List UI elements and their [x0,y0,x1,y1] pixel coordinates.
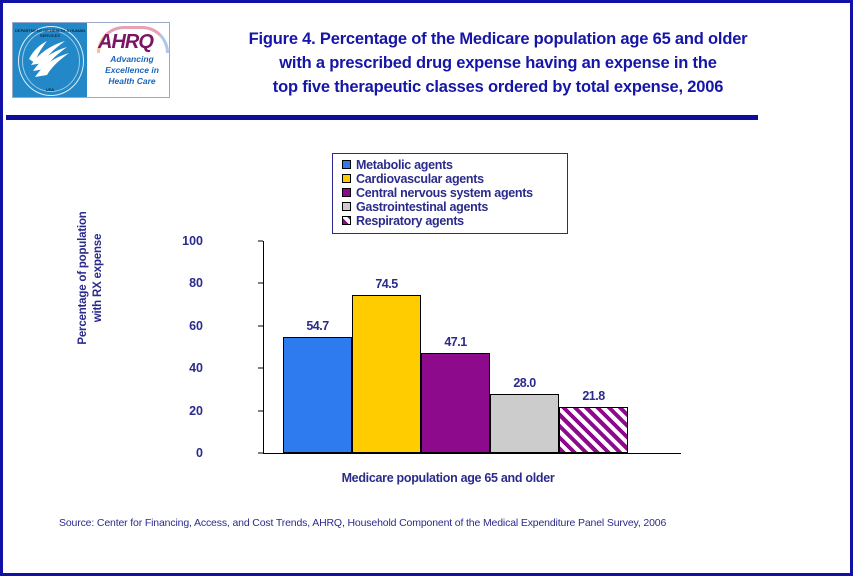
header-divider [6,115,758,120]
figure-page: DEPARTMENT OF HEALTH & HUMAN SERVICES US… [0,0,853,576]
source-note: Source: Center for Financing, Access, an… [59,517,666,529]
bar-series: 54.774.547.128.021.8 [264,241,681,453]
x-axis-line [263,453,681,454]
bar-group: 54.7 [283,241,352,453]
y-axis-label-line1: Percentage of population [76,188,91,368]
x-axis-label: Medicare population age 65 and older [203,471,693,485]
figure-title-line1: Figure 4. Percentage of the Medicare pop… [183,27,813,51]
legend-swatch-icon [342,160,351,169]
ahrq-tagline: Advancing Excellence in Health Care [95,54,169,87]
y-axis-tick-label: 40 [189,361,203,375]
legend-item-label: Cardiovascular agents [356,172,484,186]
hhs-eagle-icon [23,35,77,81]
y-axis-tick-label: 20 [189,404,203,418]
bar [283,337,352,453]
bar-group: 47.1 [421,241,490,453]
legend-item: Central nervous system agents [342,186,562,199]
ahrq-wordmark: AHRQ Advancing Excellence in Health Care [87,23,169,97]
seal-bottom-text: USA [13,87,87,92]
legend-swatch-icon [342,188,351,197]
hhs-seal-icon: DEPARTMENT OF HEALTH & HUMAN SERVICES US… [13,23,87,97]
legend-swatch-icon [342,174,351,183]
legend-item-label: Metabolic agents [356,158,453,172]
y-axis-tick-label: 0 [196,446,203,460]
legend-item-label: Gastrointestinal agents [356,200,488,214]
ahrq-tagline-line1: Advancing [95,54,169,65]
legend-item-label: Central nervous system agents [356,186,533,200]
y-axis-tick-label: 60 [189,319,203,333]
legend-item: Respiratory agents [342,214,562,227]
legend-swatch-icon [342,202,351,211]
y-axis-label-line2: with RX expense [91,188,106,368]
y-axis: 020406080100 [203,241,233,453]
figure-header: DEPARTMENT OF HEALTH & HUMAN SERVICES US… [3,3,850,115]
bar-group: 21.8 [559,241,628,453]
bar [352,295,421,453]
bar [421,353,490,453]
ahrq-tagline-line3: Health Care [95,76,169,87]
ahrq-logo: DEPARTMENT OF HEALTH & HUMAN SERVICES US… [12,22,170,98]
figure-title-line2: with a prescribed drug expense having an… [183,51,813,75]
bar-group: 28.0 [490,241,559,453]
y-axis-label: Percentage of population with RX expense [76,188,106,368]
legend-swatch-icon [342,216,351,225]
plot-area: 020406080100 54.774.547.128.021.8 [203,241,693,466]
bar-value-label: 21.8 [545,389,642,403]
figure-title-line3: top five therapeutic classes ordered by … [183,75,813,99]
chart-legend: Metabolic agentsCardiovascular agentsCen… [332,153,568,234]
y-axis-tick-label: 80 [189,276,203,290]
figure-title: Figure 4. Percentage of the Medicare pop… [183,27,813,99]
bar [559,407,628,453]
legend-item: Gastrointestinal agents [342,200,562,213]
ahrq-acronym: AHRQ [98,32,153,52]
bar-chart: Metabolic agentsCardiovascular agentsCen… [3,123,850,513]
legend-item: Metabolic agents [342,158,562,171]
legend-item-label: Respiratory agents [356,214,464,228]
ahrq-tagline-line2: Excellence in [95,65,169,76]
y-axis-tick-label: 100 [182,234,203,248]
legend-item: Cardiovascular agents [342,172,562,185]
